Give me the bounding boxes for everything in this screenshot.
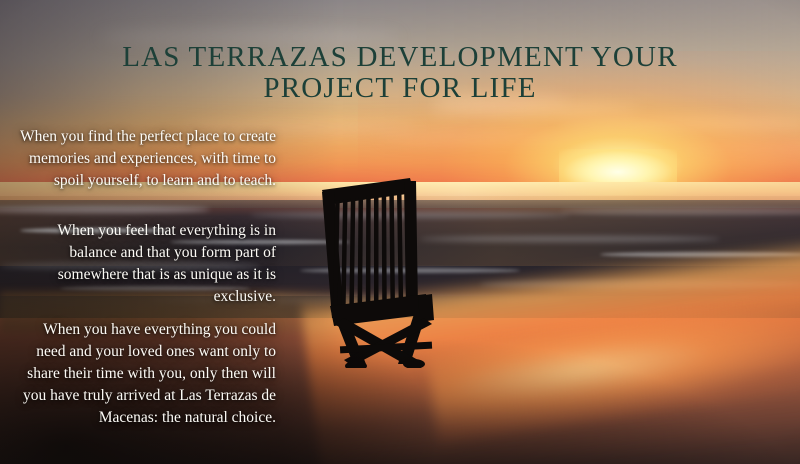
paragraph-two: When you feel that everything is in bala…: [14, 220, 276, 308]
poster-canvas: LAS TERRAZAS DEVELOPMENT YOUR PROJECT FO…: [0, 0, 800, 464]
paragraph-one: When you find the perfect place to creat…: [14, 126, 276, 192]
page-title: LAS TERRAZAS DEVELOPMENT YOUR PROJECT FO…: [0, 42, 800, 104]
paragraph-three: When you have everything you could need …: [14, 319, 276, 429]
